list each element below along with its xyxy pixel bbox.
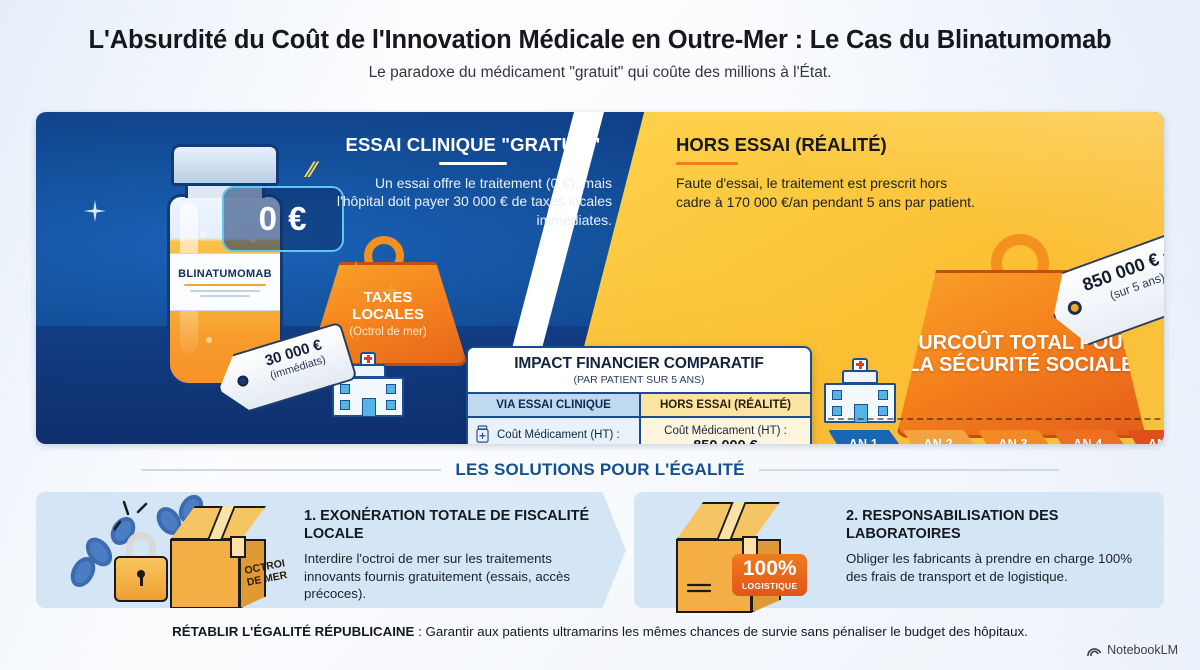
footer-statement: RÉTABLIR L'ÉGALITÉ RÉPUBLICAINE : Garant…	[0, 624, 1200, 639]
right-panel-heading: HORS ESSAI (RÉALITÉ)	[676, 134, 976, 156]
vial-label-line	[200, 295, 250, 297]
infographic-page: L'Absurdité du Coût de l'Innovation Médi…	[0, 0, 1200, 670]
financial-impact-table: IMPACT FINANCIER COMPARATIF (PAR PATIENT…	[466, 346, 812, 444]
year-chevron-4[interactable]: AN 4	[1052, 430, 1123, 444]
solutions-heading: LES SOLUTIONS POUR L'ÉGALITÉ	[455, 460, 744, 480]
notebooklm-brand: NotebookLM	[1087, 643, 1178, 657]
comparison-panel: ⁄⁄ ' BLINATUMOMAB 0	[36, 112, 1164, 444]
left-panel-heading-block: ESSAI CLINIQUE "GRATUIT" Un essai offre …	[334, 134, 612, 229]
table-body-row: Coût Médicament (HT) : 0 € Taxes (Octroi…	[468, 416, 810, 444]
heading-rule-left	[141, 469, 441, 471]
weight-subtitle: (Octrol de mer)	[349, 326, 426, 338]
hospital-icon	[824, 370, 896, 425]
table-title-block: IMPACT FINANCIER COMPARATIF (PAR PATIENT…	[468, 348, 810, 392]
year-chevron-5[interactable]: AN 5	[1127, 430, 1164, 444]
footer-strong: RÉTABLIR L'ÉGALITÉ RÉPUBLICAINE	[172, 624, 414, 639]
drug-cost-value-right: 850 000 €	[647, 438, 804, 444]
vial-drug-name: BLINATUMOMAB	[178, 268, 272, 280]
vial-label: BLINATUMOMAB	[170, 253, 280, 311]
vial-mini-icon	[474, 425, 491, 444]
notebooklm-logo-icon	[1087, 644, 1102, 657]
page-header: L'Absurdité du Coût de l'Innovation Médi…	[0, 0, 1200, 82]
left-panel-body: Un essai offre le traitement (0 €), mais…	[334, 174, 612, 229]
years-timeline: AN 1AN 2AN 3AN 4AN 5 170 000 € / an170 0…	[828, 430, 1164, 444]
solution-2-text: 2. RESPONSABILISATION DES LABORATOIRES O…	[846, 508, 1146, 585]
package-box-icon: OCTROI DE MER	[170, 506, 270, 612]
table-header-row: VIA ESSAI CLINIQUE HORS ESSAI (RÉALITÉ)	[468, 392, 810, 416]
year-chevron-2[interactable]: AN 2	[903, 430, 974, 444]
table-title: IMPACT FINANCIER COMPARATIF	[474, 355, 804, 373]
heading-rule-right	[759, 469, 1059, 471]
timeline-baseline	[828, 418, 1164, 420]
page-title: L'Absurdité du Coût de l'Innovation Médi…	[0, 26, 1200, 55]
weight-line2: LOCALES	[352, 306, 424, 323]
zero-euro-badge: 0 €	[222, 186, 344, 252]
drug-cost-label: Coût Médicament (HT) :	[497, 429, 620, 441]
sparkle-icon: ⁄⁄	[308, 157, 315, 183]
solution-2-title: 2. RESPONSABILISATION DES LABORATOIRES	[846, 508, 1146, 543]
solution-card-1[interactable]: OCTROI DE MER 1. EXONÉRATION TOTALE DE F…	[36, 492, 626, 608]
page-subtitle: Le paradoxe du médicament "gratuit" qui …	[0, 64, 1200, 82]
vial-cap	[171, 144, 279, 186]
drug-cost-line: Coût Médicament (HT) :	[474, 425, 633, 444]
solutions-heading-block: LES SOLUTIONS POUR L'ÉGALITÉ	[0, 460, 1200, 480]
year-chevron-1[interactable]: AN 1	[828, 430, 899, 444]
solution-2-body: Obliger les fabricants à prendre en char…	[846, 550, 1146, 585]
zero-euro-value: 0 €	[259, 200, 308, 238]
chain-break-burst-icon	[114, 496, 154, 532]
table-cell-right: Coût Médicament (HT) : 850 000 € Taxes (…	[641, 418, 810, 444]
heading-rule	[676, 162, 738, 165]
footer-rest: : Garantir aux patients ultramarins les …	[414, 624, 1027, 639]
solution-card-2[interactable]: 100% LOGISTIQUE 2. RESPONSABILISATION DE…	[634, 492, 1164, 608]
table-subtitle: (PAR PATIENT SUR 5 ANS)	[474, 374, 804, 386]
solution-1-body: Interdire l'octroi de mer sur les traite…	[304, 550, 604, 603]
badge-number: 100%	[742, 558, 797, 579]
table-cell-left: Coût Médicament (HT) : 0 € Taxes (Octroi…	[468, 418, 639, 444]
table-col-header-essai: VIA ESSAI CLINIQUE	[468, 394, 639, 416]
right-panel-body: Faute d'essai, le traitement est prescri…	[676, 174, 976, 212]
year-chevron-row: AN 1AN 2AN 3AN 4AN 5	[828, 430, 1164, 444]
tag-unit: HT	[1161, 246, 1164, 265]
solution-1-text: 1. EXONÉRATION TOTALE DE FISCALITÉ LOCAL…	[304, 508, 604, 603]
right-panel-heading-block: HORS ESSAI (RÉALITÉ) Faute d'essai, le t…	[676, 134, 976, 212]
vial-bubble	[200, 231, 207, 238]
logistics-badge: 100% LOGISTIQUE	[732, 554, 807, 596]
solutions-row: OCTROI DE MER 1. EXONÉRATION TOTALE DE F…	[36, 492, 1164, 608]
left-panel-heading: ESSAI CLINIQUE "GRATUIT"	[334, 134, 612, 156]
heading-rule	[439, 162, 507, 165]
table-col-header-hors-essai: HORS ESSAI (RÉALITÉ)	[641, 394, 810, 416]
solution-1-title: 1. EXONÉRATION TOTALE DE FISCALITÉ LOCAL…	[304, 508, 604, 543]
drug-cost-label-right: Coût Médicament (HT) :	[647, 425, 804, 437]
badge-label: LOGISTIQUE	[742, 581, 797, 591]
vial-bubble	[206, 337, 212, 343]
brand-name: NotebookLM	[1107, 643, 1178, 657]
year-chevron-3[interactable]: AN 3	[978, 430, 1049, 444]
weight-line1: TAXES	[364, 289, 413, 306]
box-lines-icon	[686, 580, 718, 598]
padlock-icon	[114, 532, 170, 604]
vial-label-line	[190, 290, 260, 292]
vial-label-line	[184, 284, 266, 286]
